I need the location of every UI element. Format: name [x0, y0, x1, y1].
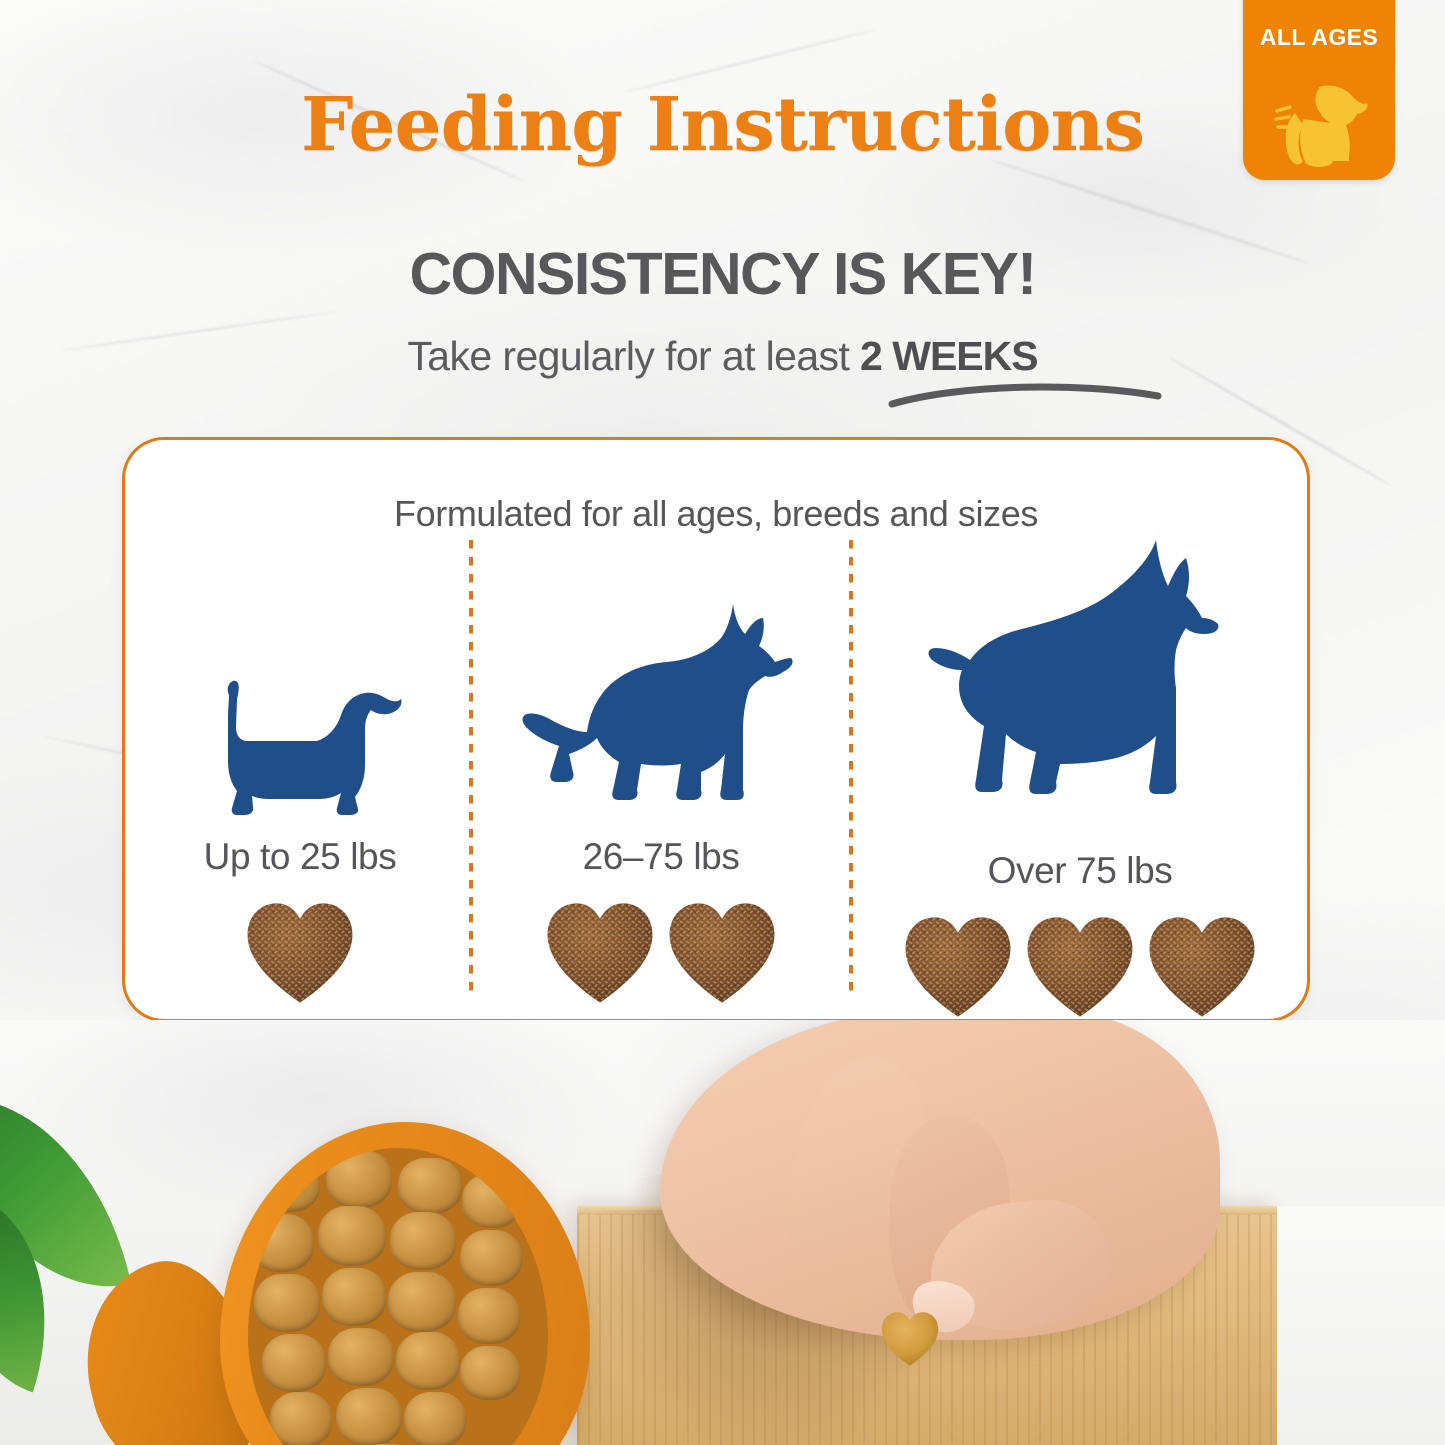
tagline-underline [880, 374, 1170, 414]
heart-treat-icon [544, 900, 656, 1006]
page-title: Feeding Instructions [0, 82, 1445, 168]
product-photo [0, 1020, 1445, 1445]
treat-count-medium [544, 900, 778, 1006]
large-dog-silhouette-icon [853, 536, 1307, 836]
size-label-medium: 26–75 lbs [583, 836, 740, 878]
size-column-small: Up to 25 lbs [131, 536, 469, 1006]
heart-treat-icon [1146, 914, 1258, 1020]
size-label-small: Up to 25 lbs [204, 836, 397, 878]
treat-count-small [244, 900, 356, 1006]
heart-treat-icon [244, 900, 356, 1006]
feeding-chart-card: Formulated for all ages, breeds and size… [122, 437, 1310, 1022]
all-ages-badge-label: ALL AGES [1260, 24, 1378, 51]
medium-dog-silhouette-icon [473, 536, 849, 822]
tagline-prefix: Take regularly for at least [407, 333, 860, 379]
photo-right-surface [1277, 1206, 1445, 1445]
page-subtitle: CONSISTENCY IS KEY! [0, 240, 1445, 308]
treat-count-large [902, 914, 1258, 1020]
small-dog-silhouette-icon [131, 536, 469, 822]
heart-treat-icon [902, 914, 1014, 1020]
heart-treat-icon [1024, 914, 1136, 1020]
size-label-large: Over 75 lbs [988, 850, 1173, 892]
heart-treat-icon [666, 900, 778, 1006]
size-column-large: Over 75 lbs [853, 536, 1307, 1006]
tagline-emphasis: 2 WEEKS [860, 333, 1038, 379]
size-column-medium: 26–75 lbs [473, 536, 849, 1006]
card-heading: Formulated for all ages, breeds and size… [125, 493, 1307, 535]
tagline: Take regularly for at least 2 WEEKS [0, 333, 1445, 380]
container-kibble-fill [248, 1148, 548, 1445]
held-heart-treat-icon [880, 1308, 940, 1370]
